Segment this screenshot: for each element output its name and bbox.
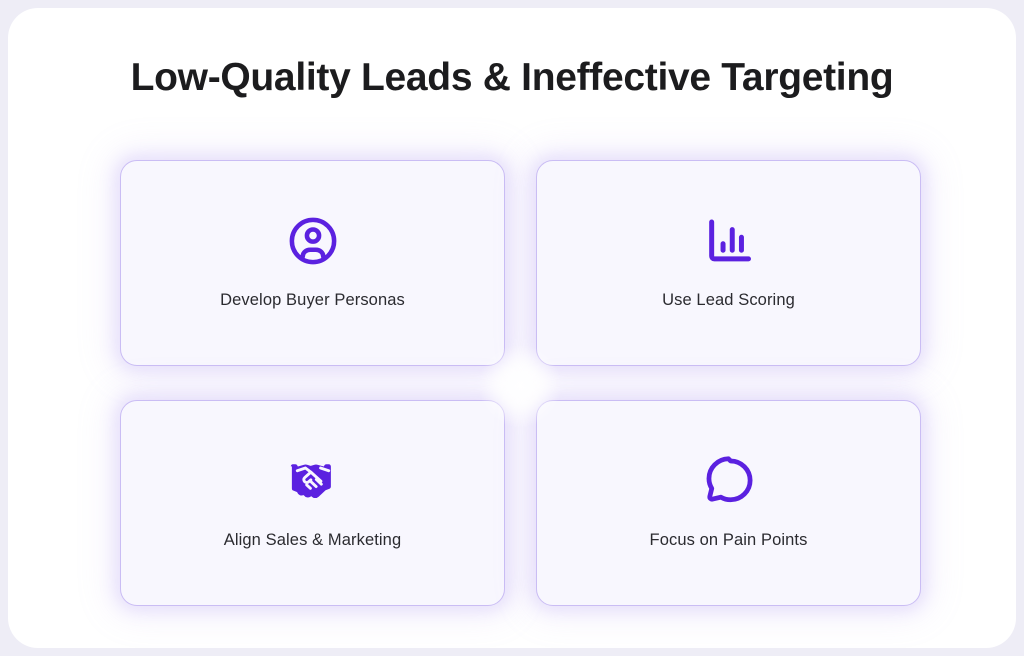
card-develop-buyer-personas[interactable]: Develop Buyer Personas [120,160,505,366]
card-align-sales-marketing[interactable]: Align Sales & Marketing [120,400,505,606]
page-title: Low-Quality Leads & Ineffective Targetin… [8,56,1016,101]
card-label: Use Lead Scoring [662,291,795,311]
card-label: Focus on Pain Points [650,531,808,551]
page-panel: Low-Quality Leads & Ineffective Targetin… [8,8,1016,648]
card-label: Develop Buyer Personas [220,291,405,311]
user-circle-icon [287,215,339,267]
handshake-icon [287,455,339,507]
solution-card-grid: Develop Buyer Personas Use Lead Scoring [120,160,921,606]
card-use-lead-scoring[interactable]: Use Lead Scoring [536,160,921,366]
bar-chart-icon [703,215,755,267]
card-focus-on-pain-points[interactable]: Focus on Pain Points [536,400,921,606]
speech-bubble-icon [703,455,755,507]
card-label: Align Sales & Marketing [224,531,401,551]
